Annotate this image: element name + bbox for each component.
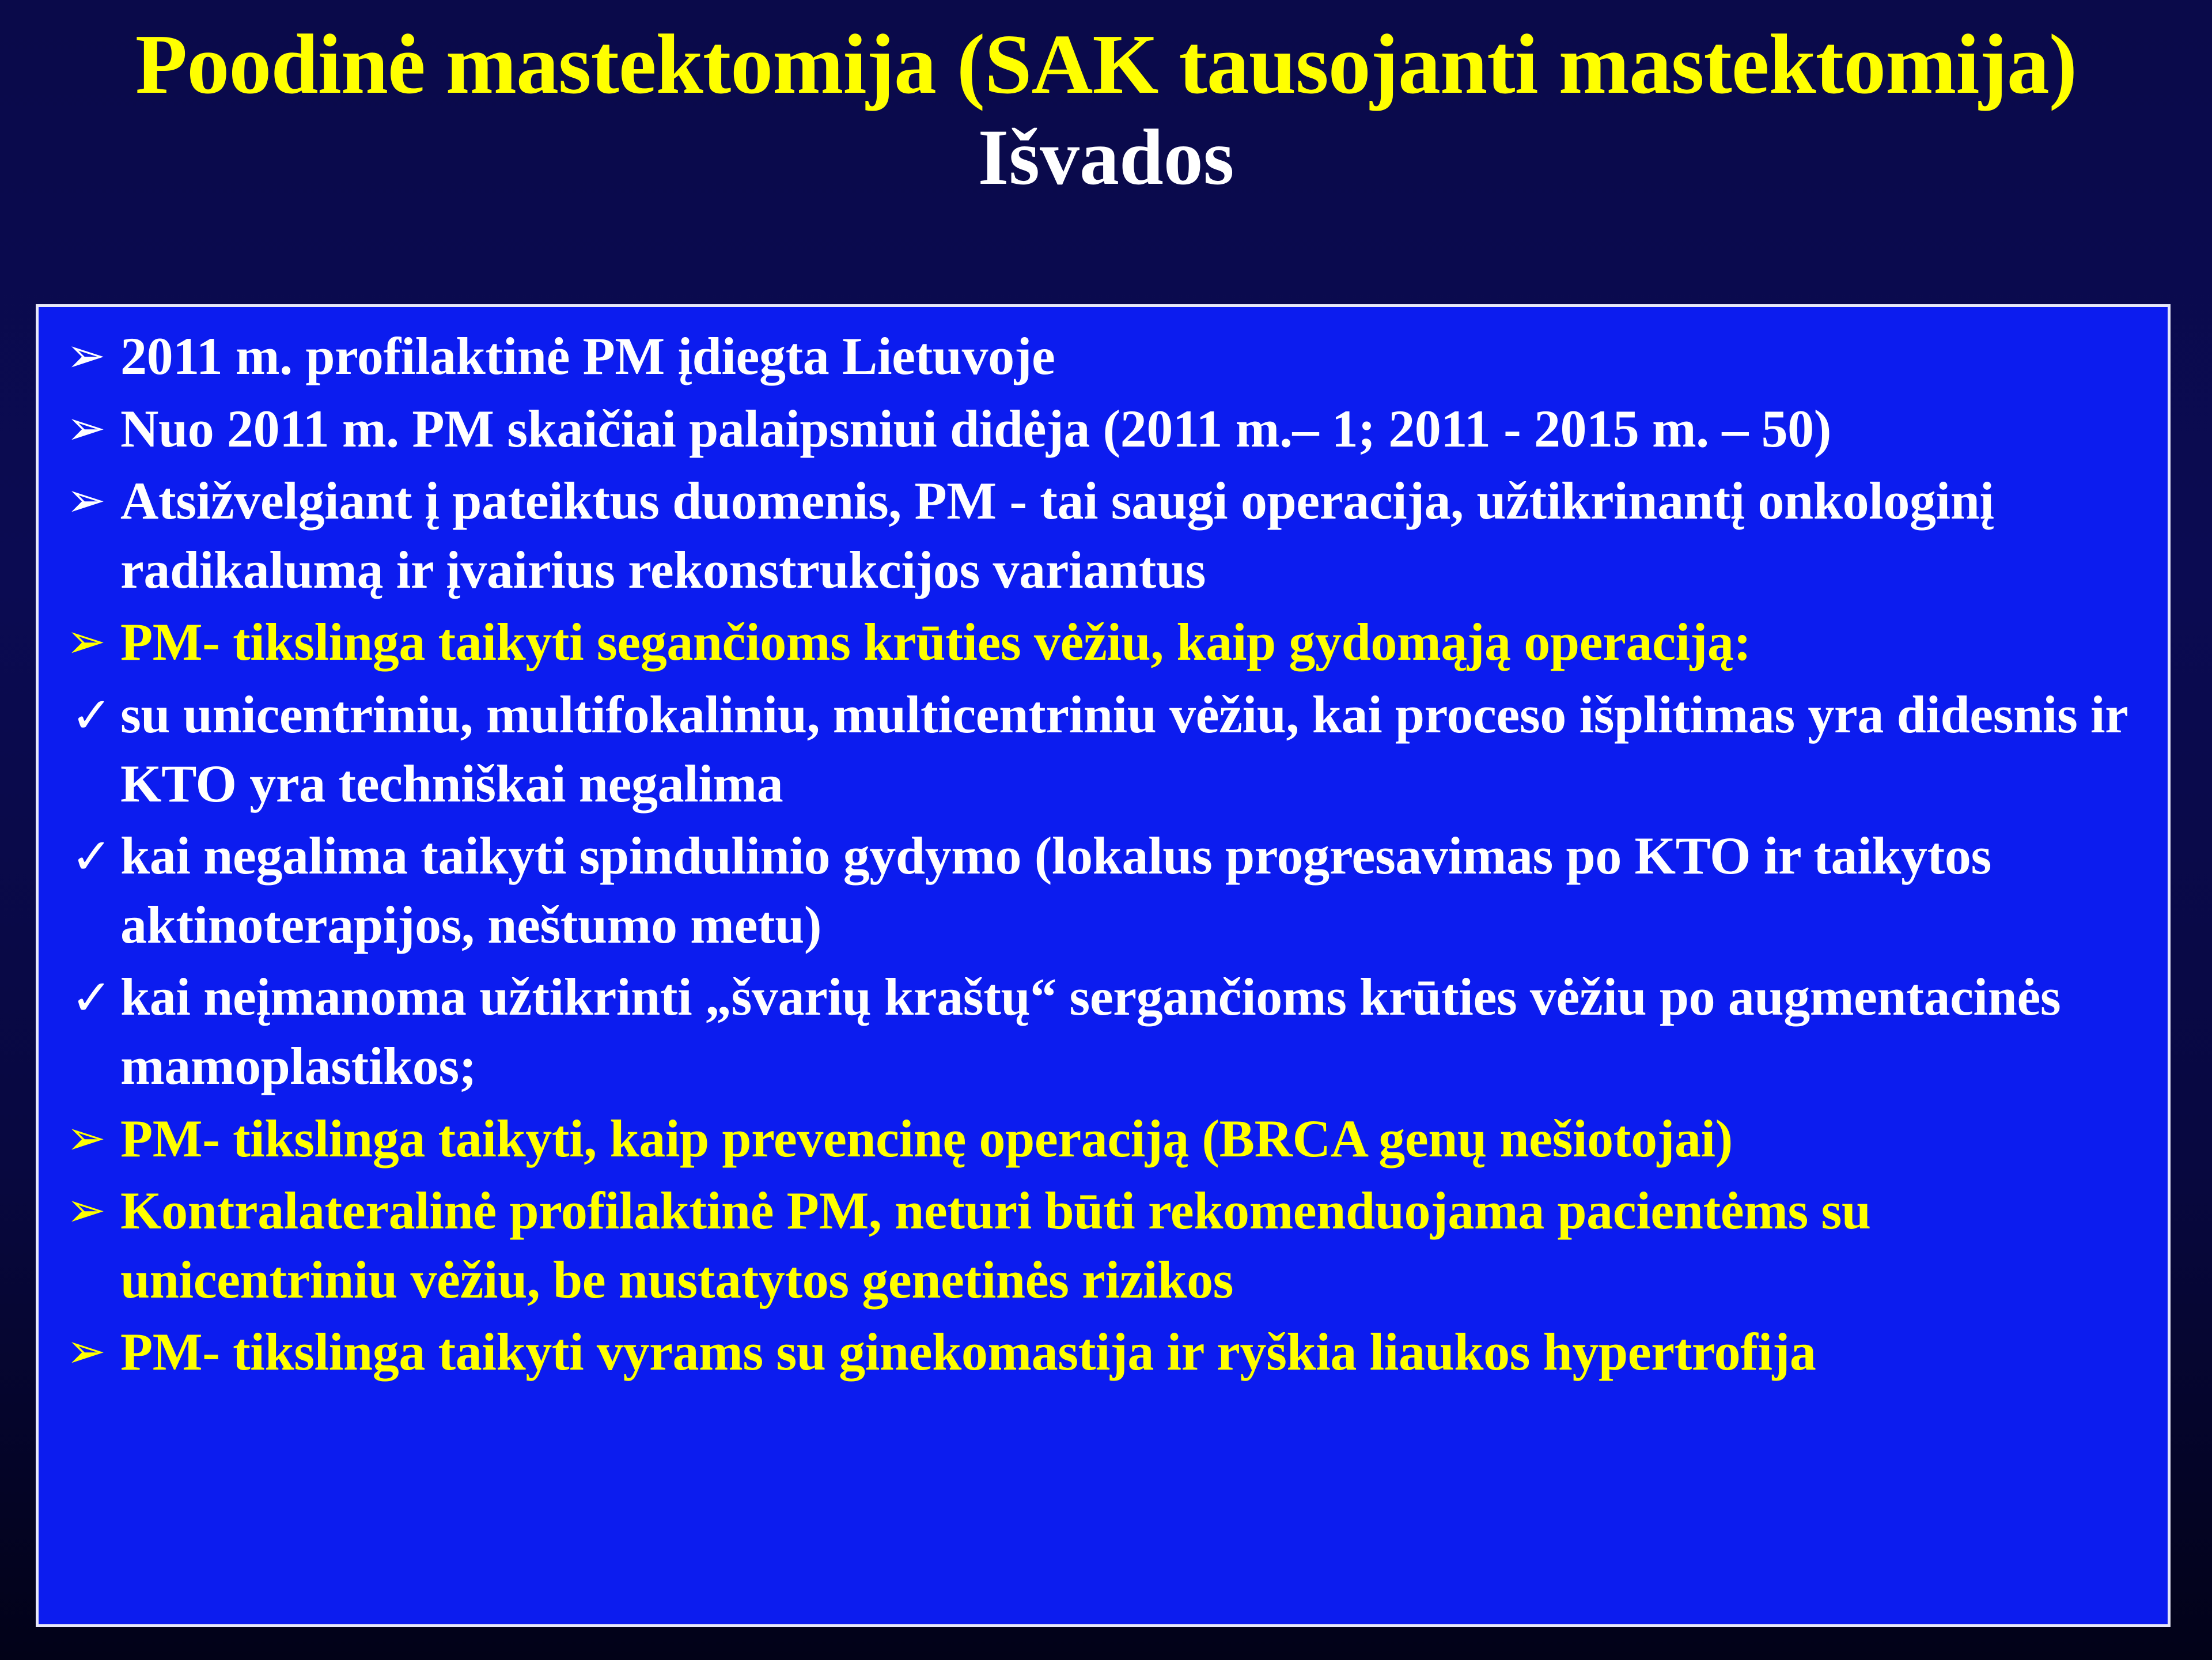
list-item-label: 2011 m. profilaktinė PM įdiegta Lietuvoj… [120,322,2145,391]
arrow-bullet-icon: ➢ [56,395,120,460]
list-item-label: Atsižvelgiant į pateiktus duomenis, PM -… [120,467,2145,604]
list-item: ➢ Nuo 2011 m. PM skaičiai palaipsniui di… [56,395,2145,464]
list-item: ➢ PM- tikslinga taikyti vyrams su gineko… [56,1318,2145,1387]
list-item: ➢ Kontralateralinė profilaktinė PM, netu… [56,1177,2145,1314]
arrow-bullet-icon: ➢ [56,1177,120,1242]
arrow-bullet-icon: ➢ [56,1318,120,1383]
arrow-bullet-icon: ➢ [56,467,120,532]
list-item-label: PM- tikslinga taikyti, kaip prevencinę o… [120,1105,2145,1174]
slide-title-block: Poodinė mastektomija (SAK tausojanti mas… [0,17,2212,199]
page-subtitle: Išvados [0,115,2212,199]
content-panel: ➢ 2011 m. profilaktinė PM įdiegta Lietuv… [36,304,2171,1627]
list-item: ➢ 2011 m. profilaktinė PM įdiegta Lietuv… [56,322,2145,391]
page-title: Poodinė mastektomija (SAK tausojanti mas… [0,17,2212,113]
list-item: ✓ kai negalima taikyti spindulinio gydym… [56,822,2145,959]
list-item: ➢ Atsižvelgiant į pateiktus duomenis, PM… [56,467,2145,604]
check-bullet-icon: ✓ [56,680,120,748]
list-item-label: kai negalima taikyti spindulinio gydymo … [120,822,2145,959]
list-item-label: PM- tikslinga taikyti segančioms krūties… [120,608,2145,677]
arrow-bullet-icon: ➢ [56,322,120,387]
list-item-label: su unicentriniu, multifokaliniu, multice… [120,680,2145,818]
list-item-label: Nuo 2011 m. PM skaičiai palaipsniui didė… [120,395,2145,464]
conclusions-list: ➢ 2011 m. profilaktinė PM įdiegta Lietuv… [56,322,2145,1387]
list-item: ➢ PM- tikslinga taikyti segančioms krūti… [56,608,2145,677]
list-item-label: PM- tikslinga taikyti vyrams su ginekoma… [120,1318,2145,1387]
slide-canvas: Poodinė mastektomija (SAK tausojanti mas… [0,0,2212,1660]
arrow-bullet-icon: ➢ [56,1105,120,1170]
list-item-label: Kontralateralinė profilaktinė PM, neturi… [120,1177,2145,1314]
list-item: ✓ kai neįmanoma užtikrinti „švarių krašt… [56,963,2145,1101]
list-item-label: kai neįmanoma užtikrinti „švarių kraštų“… [120,963,2145,1101]
list-item: ➢ PM- tikslinga taikyti, kaip prevencinę… [56,1105,2145,1174]
list-item: ✓ su unicentriniu, multifokaliniu, multi… [56,680,2145,818]
arrow-bullet-icon: ➢ [56,608,120,673]
check-bullet-icon: ✓ [56,822,120,890]
check-bullet-icon: ✓ [56,963,120,1031]
